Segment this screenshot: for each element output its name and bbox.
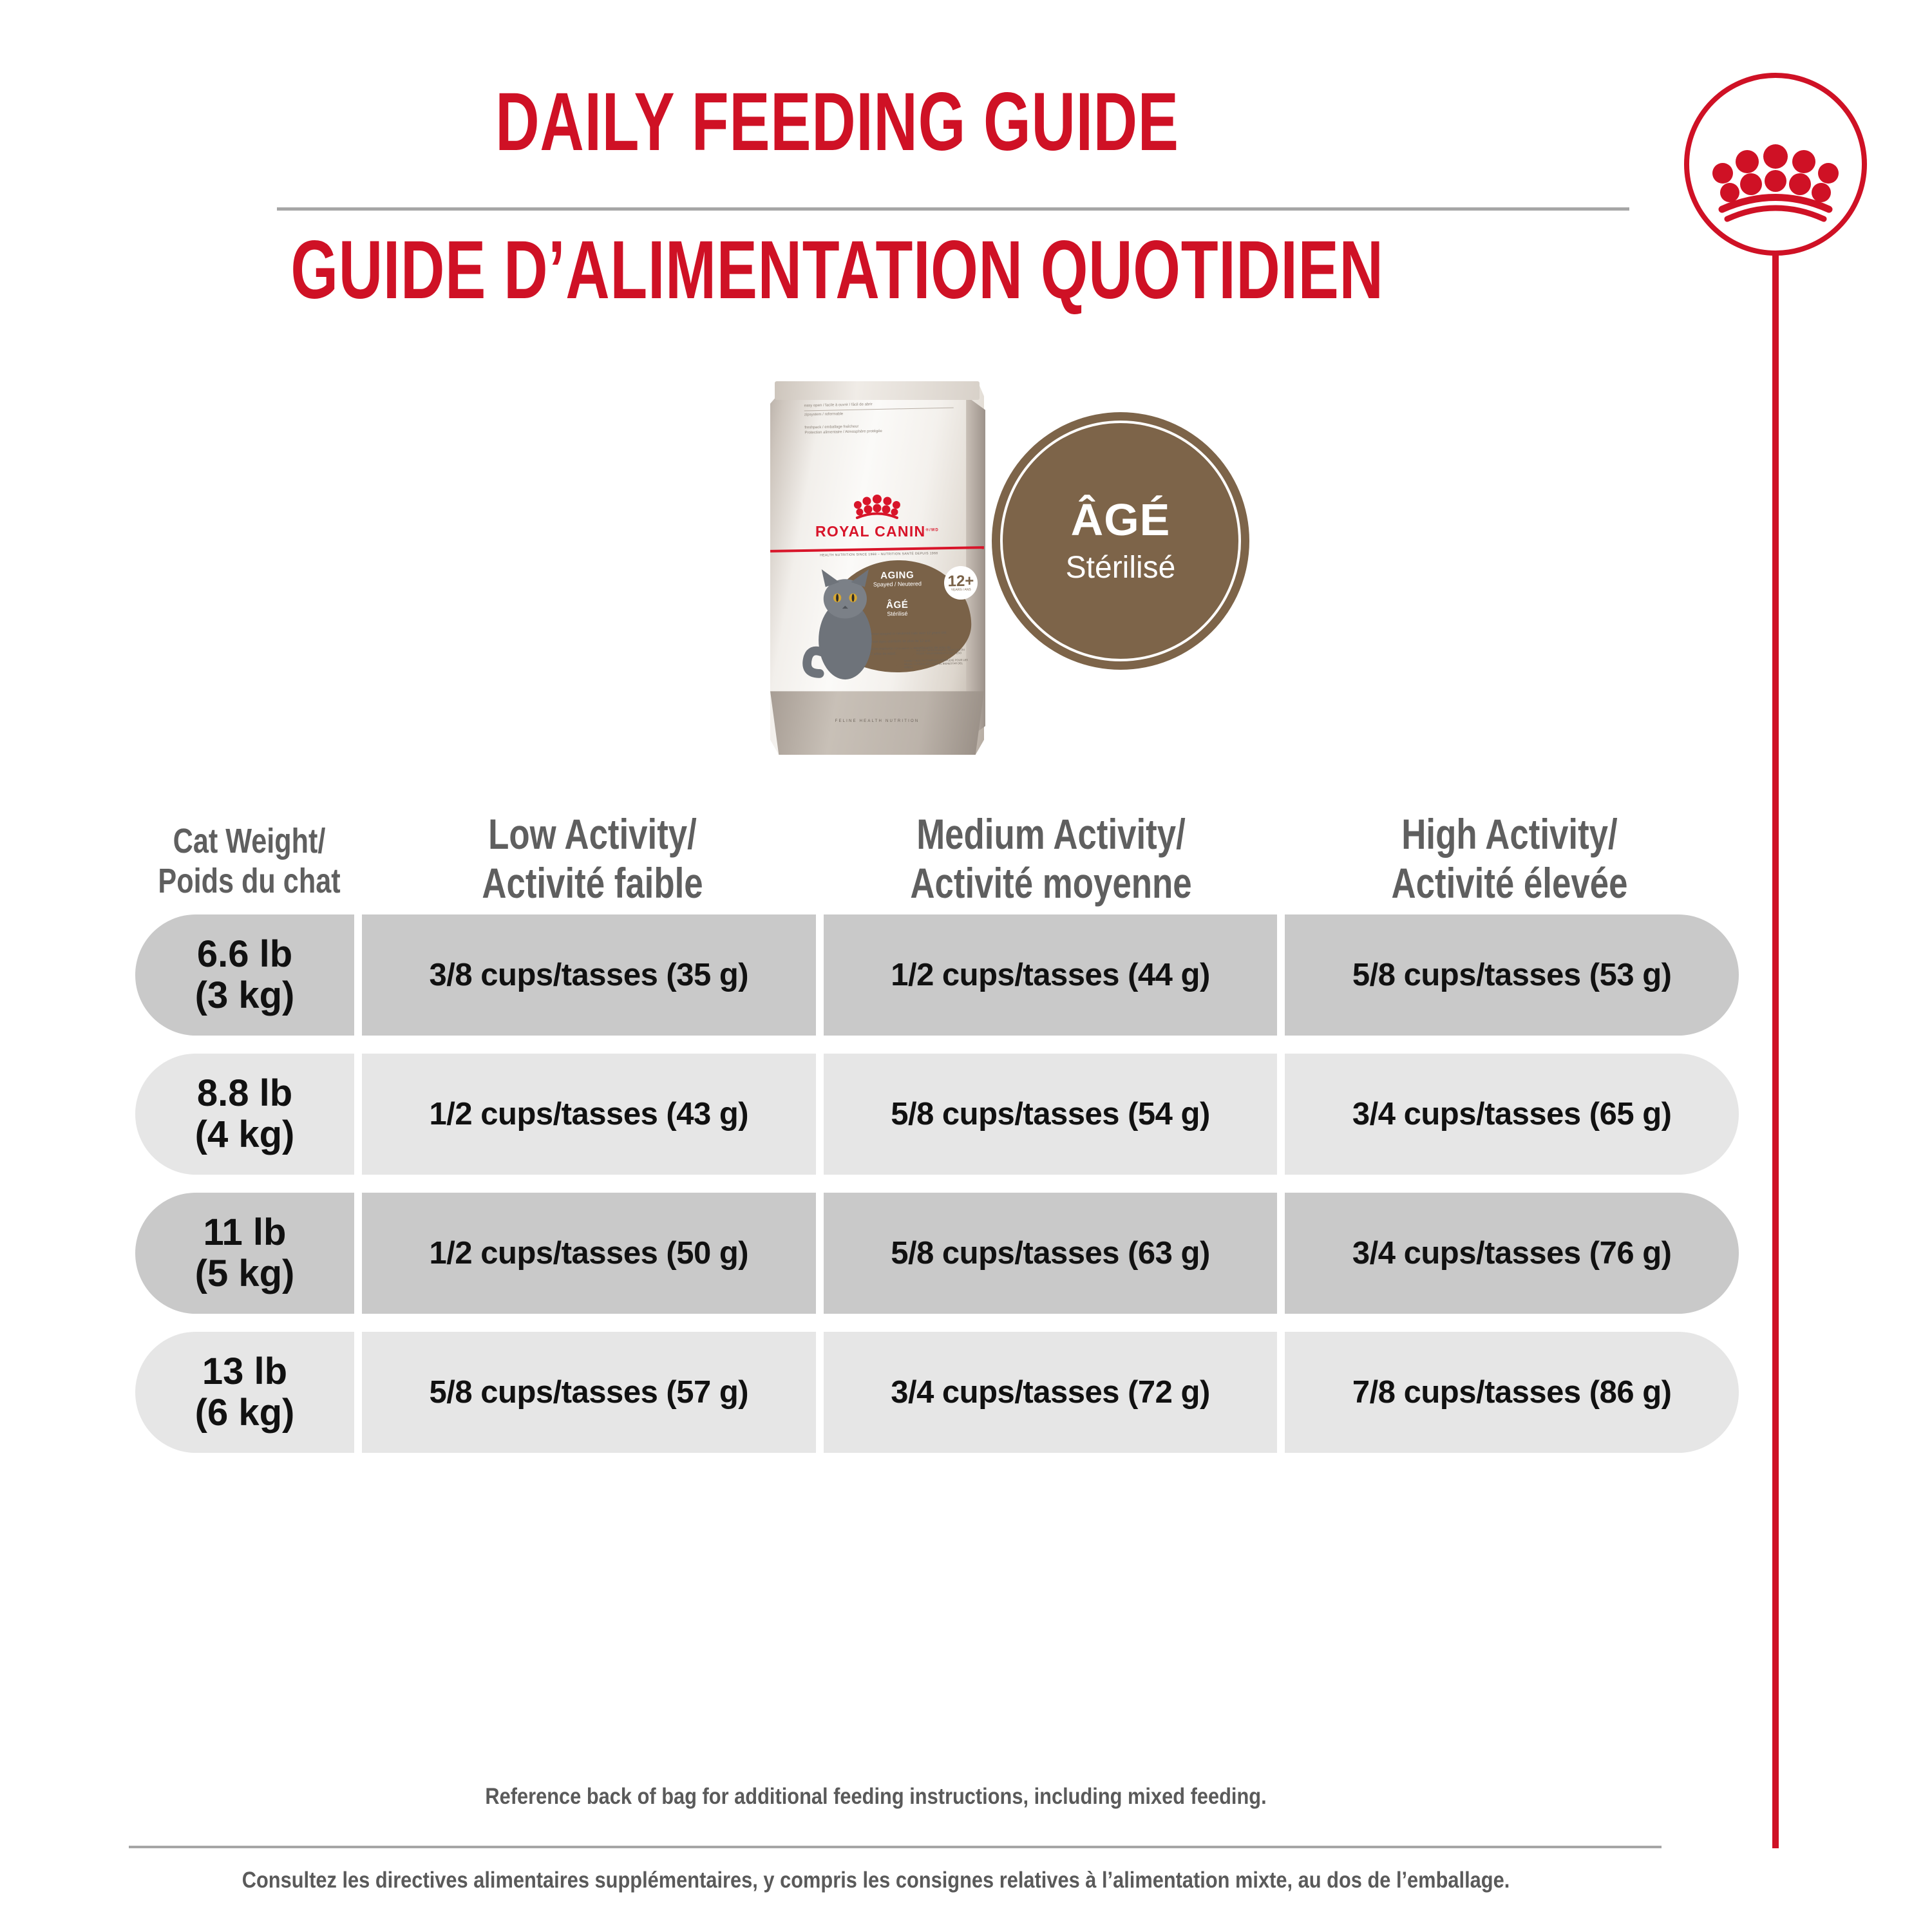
footer-note-fr: Consultez les directives alimentaires su… <box>105 1868 1647 1893</box>
bag-benefit-weight-label: WEIGHT MAINTENANCE / MAINTIEN DU POIDS /… <box>916 647 969 654</box>
cell-medium-activity: 1/2 cups/tasses (44 g) <box>824 914 1278 1036</box>
cell-weight: 8.8 lb (4 kg) <box>135 1054 354 1175</box>
column-header-high-en: High Activity/ <box>1326 810 1693 859</box>
footer-note-en: Reference back of bag for additional fee… <box>105 1784 1647 1810</box>
cell-weight-lb: 11 lb <box>204 1212 287 1253</box>
cell-weight: 6.6 lb (3 kg) <box>135 914 354 1036</box>
cell-weight-lb: 13 lb <box>202 1351 287 1392</box>
cell-medium-activity: 5/8 cups/tasses (63 g) <box>824 1193 1278 1314</box>
bag-bottom-band <box>770 691 984 755</box>
column-header-high-fr: Activité élevée <box>1326 858 1693 908</box>
cell-weight-lb: 8.8 lb <box>197 1073 292 1114</box>
cell-medium-activity: 3/4 cups/tasses (72 g) <box>824 1332 1278 1453</box>
cell-weight: 13 lb (6 kg) <box>135 1332 354 1453</box>
cell-weight-kg: (6 kg) <box>195 1392 295 1434</box>
table-row: 6.6 lb (3 kg) 3/8 cups/tasses (35 g) 1/2… <box>135 914 1739 1036</box>
cell-high-activity: 7/8 cups/tasses (86 g) <box>1285 1332 1739 1453</box>
cell-weight-kg: (3 kg) <box>195 975 295 1016</box>
cell-medium-activity: 5/8 cups/tasses (54 g) <box>824 1054 1278 1175</box>
column-header-low-activity: Low Activity/ Activité faible <box>409 810 776 914</box>
column-header-low-fr: Activité faible <box>409 858 776 908</box>
cell-high-activity: 5/8 cups/tasses (53 g) <box>1285 914 1739 1036</box>
cat-photo <box>796 538 895 706</box>
cat-silhouette-icon <box>896 647 914 656</box>
column-header-low-en: Low Activity/ <box>409 810 776 859</box>
segment-badge-subtitle: Stérilisé <box>1066 549 1176 587</box>
logo-stem-line <box>1772 254 1779 1848</box>
column-header-weight-en: Cat Weight/ <box>158 821 340 862</box>
kidney-dot-icon <box>896 661 902 667</box>
bag-top-fold <box>775 381 980 400</box>
cell-weight-lb: 6.6 lb <box>197 934 292 975</box>
bag-crown-icon <box>815 493 939 522</box>
cell-low-activity: 1/2 cups/tasses (43 g) <box>362 1054 816 1175</box>
column-header-weight: Cat Weight/ Poids du chat <box>158 821 340 914</box>
segment-badge-title: ÂGÉ <box>1071 495 1171 545</box>
column-header-medium-en: Medium Activity/ <box>867 810 1235 859</box>
cell-low-activity: 3/8 cups/tasses (35 g) <box>362 914 816 1036</box>
table-row: 11 lb (5 kg) 1/2 cups/tasses (50 g) 5/8 … <box>135 1193 1739 1314</box>
bag-benefit-weight: WEIGHT MAINTENANCE / MAINTIEN DU POIDS /… <box>896 646 969 657</box>
cell-weight-kg: (5 kg) <box>195 1253 295 1294</box>
table-row: 13 lb (6 kg) 5/8 cups/tasses (57 g) 3/4 … <box>135 1332 1739 1453</box>
cell-high-activity: 3/4 cups/tasses (76 g) <box>1285 1193 1739 1314</box>
bag-age-number: 12+ <box>947 574 974 589</box>
cell-low-activity: 5/8 cups/tasses (57 g) <box>362 1332 816 1453</box>
table-row: 8.8 lb (4 kg) 1/2 cups/tasses (43 g) 5/8… <box>135 1054 1739 1175</box>
bag-age-unit: YEARS / ANS <box>951 588 971 592</box>
table-header-row: Cat Weight/ Poids du chat Low Activity/ … <box>135 766 1739 914</box>
bag-benefit-kidney-label: KIDNEY HEALTH COMPLEX / COMPLEXE POUR LE… <box>904 658 969 669</box>
column-header-medium-fr: Activité moyenne <box>867 858 1235 908</box>
bag-benefit-kidney: KIDNEY HEALTH COMPLEX / COMPLEXE POUR LE… <box>896 658 969 669</box>
product-bag-image: easy open / facile à ouvrir / fácil de a… <box>770 381 984 755</box>
footer-divider <box>129 1846 1662 1848</box>
column-header-medium-activity: Medium Activity/ Activité moyenne <box>867 810 1235 914</box>
bag-range-label: FELINE HEALTH NUTRITION <box>770 719 984 723</box>
column-header-high-activity: High Activity/ Activité élevée <box>1326 810 1693 914</box>
cell-weight: 11 lb (5 kg) <box>135 1193 354 1314</box>
title-divider <box>277 207 1629 211</box>
page-title-fr: GUIDE D’ALIMENTATION QUOTIDIEN <box>218 225 1457 316</box>
royal-canin-crown-logo <box>1682 71 1869 258</box>
bag-benefit-badges: WEIGHT MAINTENANCE / MAINTIEN DU POIDS /… <box>896 646 970 672</box>
page-title-en: DAILY FEEDING GUIDE <box>218 77 1457 167</box>
cell-weight-kg: (4 kg) <box>195 1114 295 1155</box>
bag-top-text: easy open / facile à ouvrir / fácil de a… <box>804 400 954 435</box>
cell-high-activity: 3/4 cups/tasses (65 g) <box>1285 1054 1739 1175</box>
bag-brand-lockup: ROYAL CANIN®/MD <box>815 493 939 540</box>
bag-brand-mark: ®/MD <box>925 528 939 532</box>
cell-low-activity: 1/2 cups/tasses (50 g) <box>362 1193 816 1314</box>
column-header-weight-fr: Poids du chat <box>158 861 340 902</box>
product-segment-badge: ÂGÉ Stérilisé <box>992 412 1249 670</box>
feeding-guide-table: Cat Weight/ Poids du chat Low Activity/ … <box>135 766 1739 1471</box>
